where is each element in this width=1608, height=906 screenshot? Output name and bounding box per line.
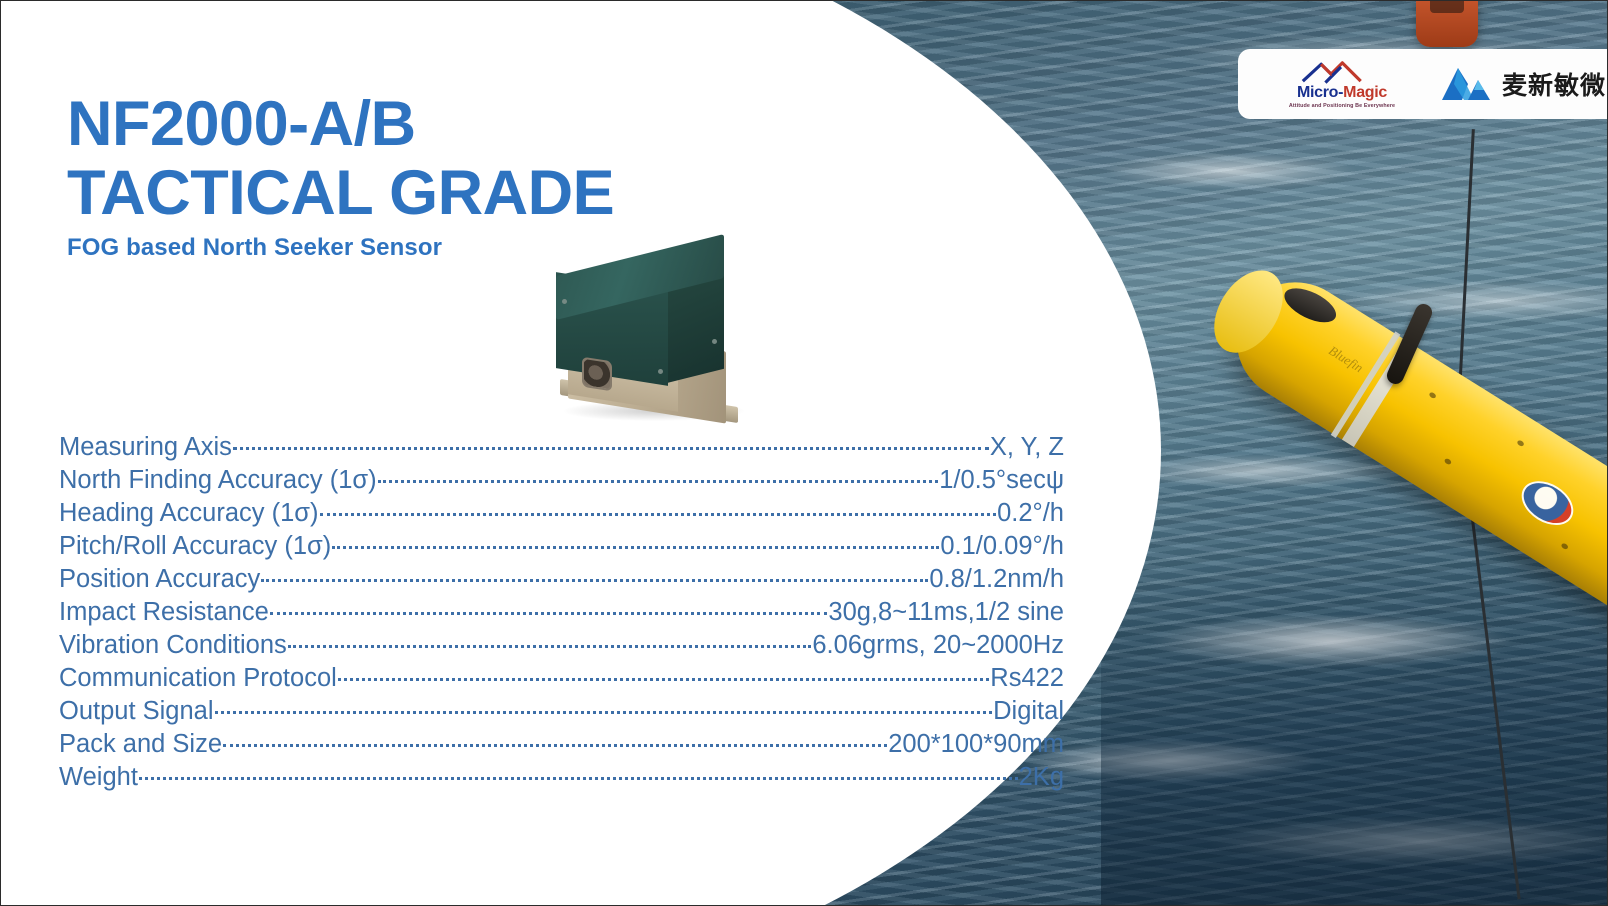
brand-logo-card: Micro-Magic Attitude and Positioning Be …	[1238, 49, 1608, 119]
spec-value: 200*100*90mm	[888, 728, 1064, 761]
spec-leader-dots	[320, 513, 997, 516]
spec-label: Measuring Axis	[59, 431, 232, 464]
product-screw	[658, 369, 663, 374]
product-screw	[562, 299, 567, 304]
product-connector	[582, 357, 612, 392]
title-line-2: TACTICAL GRADE	[67, 162, 887, 225]
spec-label: Impact Resistance	[59, 596, 269, 629]
spec-value: 2Kg	[1019, 761, 1064, 794]
spec-leader-dots	[223, 744, 887, 747]
spec-row: Measuring Axis X, Y, Z	[59, 431, 1064, 464]
spec-label: Weight	[59, 761, 138, 794]
spec-value: 30g,8~11ms,1/2 sine	[828, 596, 1064, 629]
auv-port	[1516, 439, 1525, 447]
spec-leader-dots	[139, 777, 1018, 780]
spec-label: Heading Accuracy (1σ)	[59, 497, 319, 530]
spec-row: Pitch/Roll Accuracy (1σ) 0.1/0.09°/h	[59, 530, 1064, 563]
spec-value: Rs422	[990, 662, 1064, 695]
product-photo	[546, 241, 761, 431]
micro-magic-mountain-icon	[1300, 60, 1385, 84]
spec-value: 1/0.5°secψ	[939, 464, 1064, 497]
spec-label: Pitch/Roll Accuracy (1σ)	[59, 530, 331, 563]
mxmw-mountain-icon	[1440, 66, 1492, 102]
spec-leader-dots	[288, 645, 812, 648]
spec-value: X, Y, Z	[990, 431, 1064, 464]
spec-row: Pack and Size 200*100*90mm	[59, 728, 1064, 761]
spec-value: 0.8/1.2nm/h	[929, 563, 1064, 596]
mxmw-logo: 麦新敏微	[1440, 66, 1606, 102]
specification-list: Measuring Axis X, Y, Z North Finding Acc…	[59, 431, 1064, 794]
micro-magic-logo: Micro-Magic Attitude and Positioning Be …	[1262, 60, 1422, 109]
spec-row: Communication Protocol Rs422	[59, 662, 1064, 695]
orange-buoy	[1416, 0, 1478, 47]
ocean-dark-band	[1101, 561, 1608, 906]
spec-label: Pack and Size	[59, 728, 222, 761]
product-datasheet-poster: Bluefin NF2000-A/B TACTICAL GRADE FOG ba…	[0, 0, 1608, 906]
spec-row: Position Accuracy 0.8/1.2nm/h	[59, 563, 1064, 596]
spec-label: Output Signal	[59, 695, 214, 728]
auv-port	[1560, 542, 1569, 550]
spec-leader-dots	[270, 612, 828, 615]
spec-row: North Finding Accuracy (1σ) 1/0.5°secψ	[59, 464, 1064, 497]
spec-row: Heading Accuracy (1σ) 0.2°/h	[59, 497, 1064, 530]
auv-port	[1444, 458, 1453, 466]
spec-leader-dots	[332, 546, 939, 549]
spec-leader-dots	[338, 678, 989, 681]
content-area: NF2000-A/B TACTICAL GRADE FOG based Nort…	[1, 1, 1161, 906]
page-subtitle: FOG based North Seeker Sensor	[67, 234, 442, 262]
spec-row: Weight 2Kg	[59, 761, 1064, 794]
spec-leader-dots	[233, 447, 989, 450]
spec-label: North Finding Accuracy (1σ)	[59, 464, 377, 497]
spec-value: Digital	[993, 695, 1064, 728]
spec-leader-dots	[378, 480, 939, 483]
spec-label: Vibration Conditions	[59, 629, 287, 662]
spec-value: 6.06grms, 20~2000Hz	[812, 629, 1064, 662]
micro-magic-tagline: Attitude and Positioning Be Everywhere	[1289, 103, 1395, 109]
spec-row: Vibration Conditions 6.06grms, 20~2000Hz	[59, 629, 1064, 662]
spec-value: 0.2°/h	[997, 497, 1064, 530]
product-screw	[712, 339, 717, 344]
wordmark-micro: Micro-	[1297, 84, 1343, 101]
auv-hull-logo: Bluefin	[1326, 343, 1366, 376]
spec-label: Position Accuracy	[59, 563, 260, 596]
spec-label: Communication Protocol	[59, 662, 337, 695]
micro-magic-wordmark: Micro-Magic	[1297, 85, 1387, 101]
page-title: NF2000-A/B TACTICAL GRADE	[67, 93, 887, 225]
auv-decal-sticker	[1514, 472, 1582, 534]
title-line-1: NF2000-A/B	[67, 89, 416, 159]
spec-row: Output Signal Digital	[59, 695, 1064, 728]
spec-leader-dots	[261, 579, 928, 582]
spec-leader-dots	[215, 711, 993, 714]
wordmark-magic: Magic	[1343, 84, 1387, 101]
mxmw-chinese-name: 麦新敏微	[1502, 66, 1606, 102]
spec-value: 0.1/0.09°/h	[940, 530, 1064, 563]
spec-row: Impact Resistance 30g,8~11ms,1/2 sine	[59, 596, 1064, 629]
auv-port	[1428, 391, 1437, 399]
